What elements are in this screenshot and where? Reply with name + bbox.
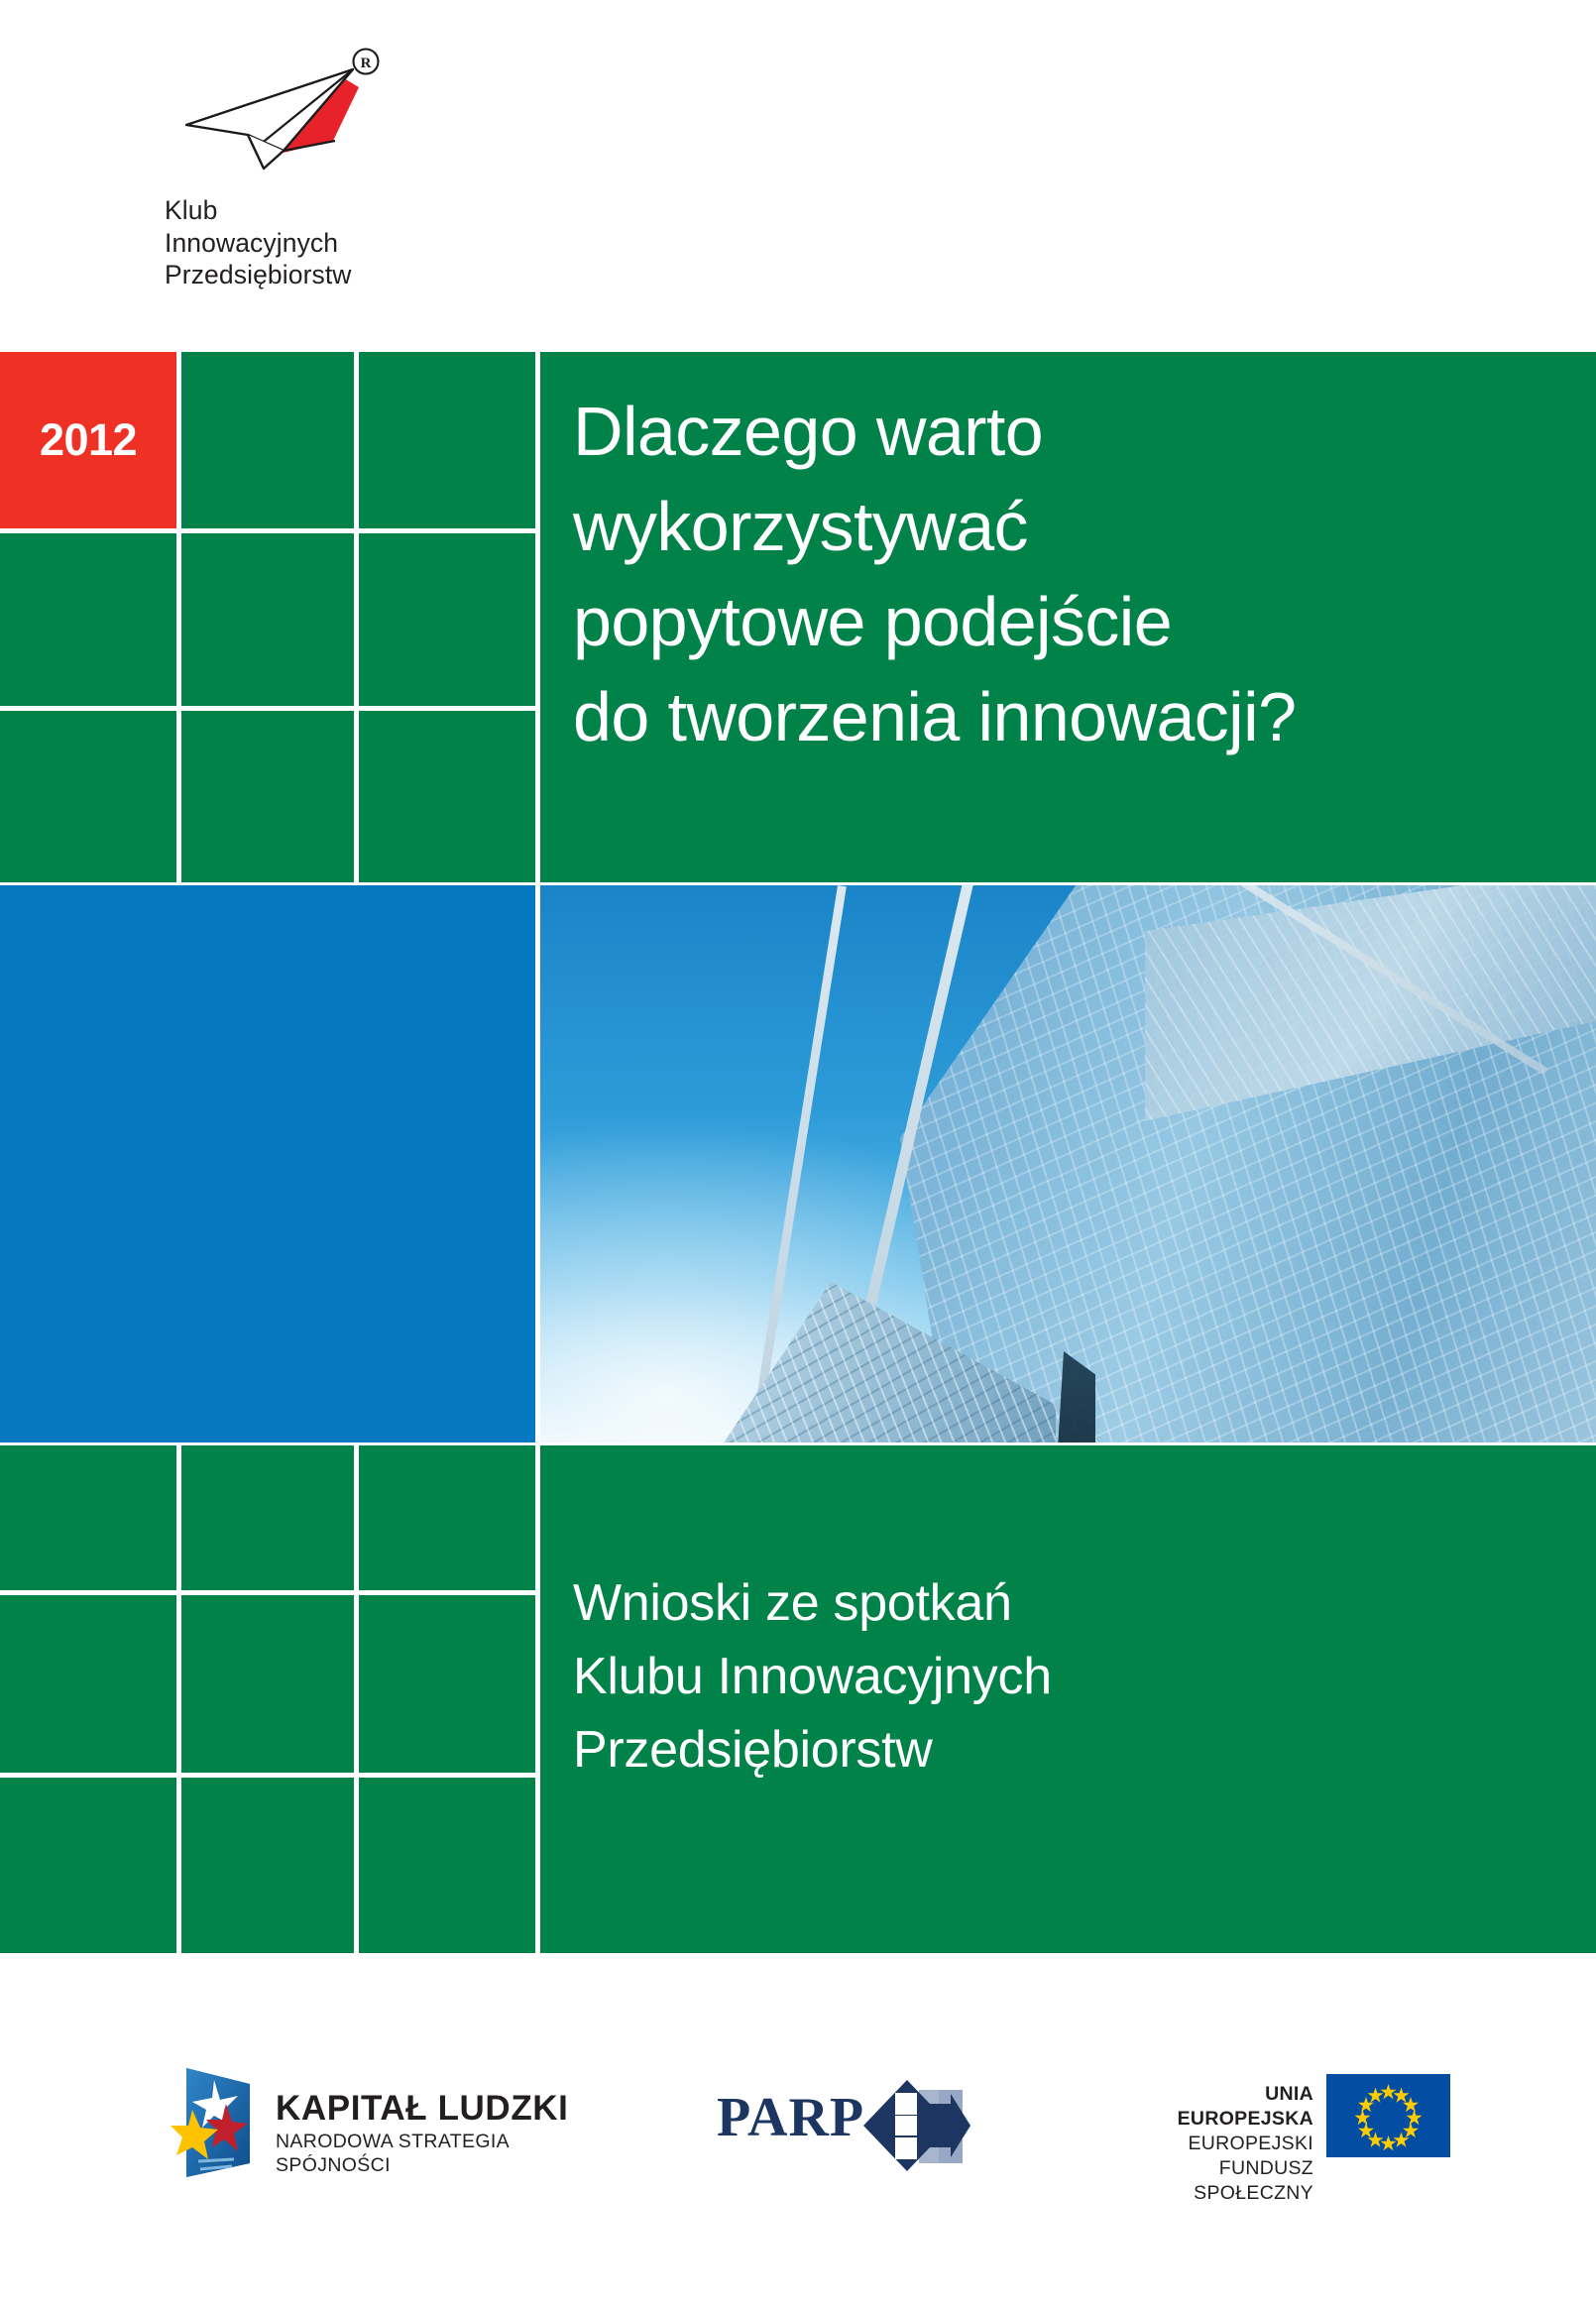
cover-photo	[540, 885, 1596, 1442]
paper-plane-icon: R	[165, 48, 393, 174]
brand-logo-text: Klub Innowacyjnych Przedsiębiorstw	[165, 194, 482, 291]
page-title-line-3: popytowe podejście	[573, 574, 1574, 669]
logo-kapital-ludzki-title: KAPITAŁ LUDZKI	[276, 2090, 575, 2128]
brand-logo: R Klub Innowacyjnych Przedsiębiorstw	[157, 48, 484, 325]
logo-eu-line-1: UNIA EUROPEJSKA	[1125, 2082, 1313, 2132]
eu-flag-icon	[1326, 2074, 1450, 2157]
logo-unia-europejska: UNIA EUROPEJSKA EUROPEJSKI FUNDUSZ SPOŁE…	[1125, 2064, 1452, 2183]
page-subtitle: Wnioski ze spotkań Klubu Innowacyjnych P…	[573, 1566, 1564, 1787]
grid-rule-horizontal	[0, 528, 535, 533]
page-title-line-4: do tworzenia innowacji?	[573, 669, 1574, 764]
grid-rule-horizontal	[0, 1773, 535, 1778]
blue-accent-block	[0, 885, 535, 1442]
logo-parp-wordmark: PARP	[717, 2086, 864, 2149]
page-subtitle-line-2: Klubu Innowacyjnych	[573, 1640, 1564, 1713]
page-title-line-1: Dlaczego warto	[573, 384, 1574, 479]
grid-rule-vertical	[354, 1445, 359, 1953]
page-subtitle-line-3: Przedsiębiorstw	[573, 1713, 1564, 1787]
page-subtitle-line-1: Wnioski ze spotkań	[573, 1566, 1564, 1640]
svg-text:R: R	[361, 56, 372, 71]
page-title-line-2: wykorzystywać	[573, 479, 1574, 574]
cover-page: R Klub Innowacyjnych Przedsiębiorstw 201…	[0, 0, 1596, 2308]
grid-rule-vertical	[176, 352, 181, 882]
hero-row	[0, 885, 1596, 1442]
logo-kapital-ludzki: KAPITAŁ LUDZKI NARODOWA STRATEGIA SPÓJNO…	[159, 2064, 575, 2183]
logo-parp: PARP	[717, 2080, 984, 2174]
parp-diamond-arrow-icon	[863, 2080, 984, 2171]
grid-rule-vertical	[176, 1445, 181, 1953]
year-badge: 2012	[0, 352, 176, 528]
subtitle-band: Wnioski ze spotkań Klubu Innowacyjnych P…	[0, 1445, 1596, 1953]
grid-rule-vertical	[354, 352, 359, 882]
grid-rule-horizontal	[0, 1590, 535, 1595]
logo-eu-line-3: FUNDUSZ SPOŁECZNY	[1125, 2156, 1313, 2206]
logo-kapital-ludzki-subtitle: NARODOWA STRATEGIA SPÓJNOŚCI	[276, 2130, 575, 2177]
brand-logo-line-2: Innowacyjnych	[165, 227, 482, 260]
year-badge-label: 2012	[40, 414, 137, 466]
title-band: 2012 Dlaczego warto wykorzystywać popyto…	[0, 352, 1596, 882]
footer-logo-row: KAPITAŁ LUDZKI NARODOWA STRATEGIA SPÓJNO…	[0, 2042, 1596, 2250]
brand-logo-line-3: Przedsiębiorstw	[165, 259, 482, 291]
page-title: Dlaczego warto wykorzystywać popytowe po…	[573, 384, 1574, 764]
grid-rule-vertical	[535, 1445, 540, 1953]
logo-kapital-ludzki-text: KAPITAŁ LUDZKI NARODOWA STRATEGIA SPÓJNO…	[276, 2090, 575, 2177]
stars-trapezoid-icon	[159, 2064, 258, 2181]
grid-rule-horizontal	[0, 706, 535, 711]
brand-logo-line-1: Klub	[165, 194, 482, 227]
grid-rule-vertical	[535, 352, 540, 882]
logo-unia-europejska-text: UNIA EUROPEJSKA EUROPEJSKI FUNDUSZ SPOŁE…	[1125, 2082, 1313, 2206]
logo-eu-line-2: EUROPEJSKI	[1125, 2132, 1313, 2156]
